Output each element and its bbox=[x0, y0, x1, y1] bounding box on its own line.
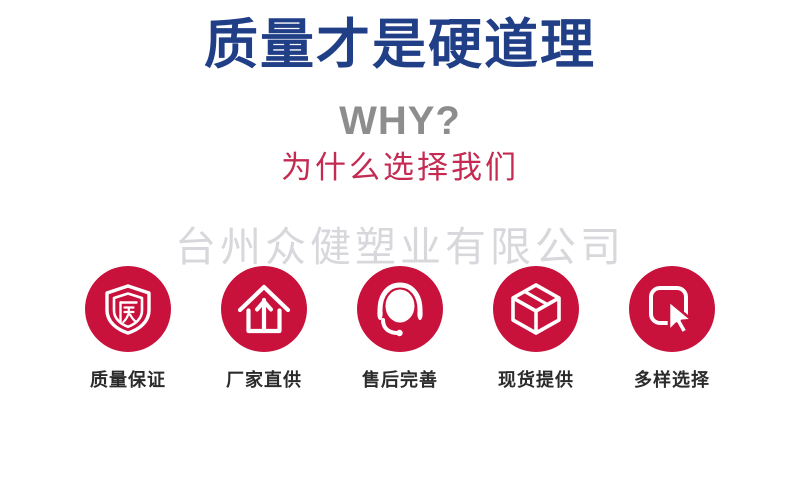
feature-label: 厂家直供 bbox=[226, 366, 302, 392]
factory-house-badge bbox=[221, 266, 307, 352]
feature-item-quality[interactable]: 质量保证 bbox=[60, 266, 196, 392]
why-label: WHY? bbox=[0, 99, 800, 143]
promo-poster: 质量才是硬道理 WHY? 为什么选择我们 台州众健塑业有限公司 bbox=[0, 0, 800, 492]
feature-label: 现货提供 bbox=[498, 366, 574, 392]
page-subtitle: 为什么选择我们 bbox=[0, 150, 800, 187]
feature-label: 售后完善 bbox=[362, 366, 438, 392]
shield-quality-badge bbox=[85, 266, 171, 352]
feature-label: 多样选择 bbox=[634, 366, 710, 392]
feature-item-choices[interactable]: 多样选择 bbox=[604, 266, 740, 392]
cursor-select-badge bbox=[629, 266, 715, 352]
headset-support-icon bbox=[371, 280, 429, 338]
company-watermark: 台州众健塑业有限公司 bbox=[0, 225, 800, 270]
feature-item-factory[interactable]: 厂家直供 bbox=[196, 266, 332, 392]
cursor-select-icon bbox=[644, 281, 700, 337]
package-box-icon bbox=[508, 281, 564, 337]
headset-support-badge bbox=[357, 266, 443, 352]
feature-item-support[interactable]: 售后完善 bbox=[332, 266, 468, 392]
page-title: 质量才是硬道理 bbox=[0, 14, 800, 76]
feature-list: 质量保证 厂家直供 bbox=[0, 266, 800, 392]
package-box-badge bbox=[493, 266, 579, 352]
shield-quality-icon bbox=[100, 281, 156, 337]
factory-house-icon bbox=[235, 280, 293, 338]
feature-item-stock[interactable]: 现货提供 bbox=[468, 266, 604, 392]
feature-label: 质量保证 bbox=[90, 366, 166, 392]
